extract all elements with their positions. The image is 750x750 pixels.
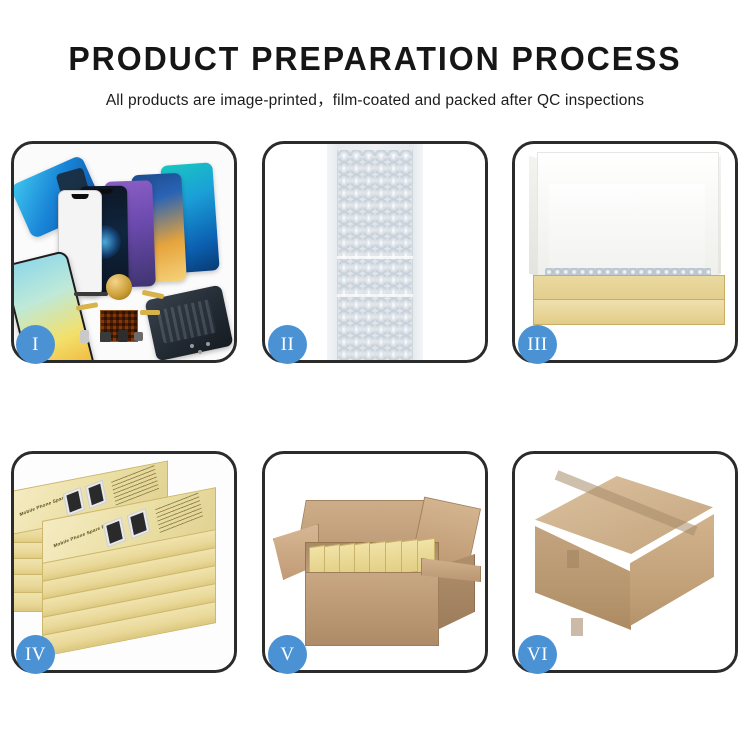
- step-badge-5: V: [268, 635, 307, 674]
- part-screw-a: [190, 344, 194, 348]
- packing-tape-side-lower: [571, 618, 583, 636]
- phone-notch: [72, 194, 89, 199]
- inner-box-4: [354, 542, 370, 576]
- kraft-tray-front: [533, 299, 725, 325]
- part-vibration-motor: [106, 274, 132, 300]
- pouch-seam-upper: [337, 256, 413, 259]
- inner-box-5: [369, 541, 386, 576]
- step-4-image: Mobile Phone Spare Parts Mobile Phone Sp…: [14, 454, 234, 670]
- phone-parts-scene: [14, 144, 234, 360]
- box-screen-image-d: [127, 508, 150, 539]
- part-earpiece-mesh: [74, 292, 108, 296]
- step-badge-6: VI: [518, 635, 557, 674]
- part-button-set: [134, 332, 143, 341]
- part-flex-cable-c: [140, 310, 160, 315]
- foam-insert: [549, 184, 705, 274]
- carton-front-face: [305, 572, 439, 646]
- part-speaker-module: [100, 332, 111, 342]
- step-badge-3: III: [518, 325, 557, 364]
- product-preparation-infographic: PRODUCT PREPARATION PROCESS All products…: [0, 0, 750, 750]
- pouch-seam-lower: [337, 294, 413, 297]
- step-1-image: [14, 144, 234, 360]
- part-camera-module: [118, 330, 128, 342]
- part-sim-tray: [80, 330, 89, 343]
- part-screw-b: [198, 350, 202, 354]
- box-screen-image-b: [85, 480, 107, 510]
- inner-box-6: [385, 540, 402, 575]
- part-screw-c: [206, 342, 210, 346]
- box-screen-image-c: [103, 517, 126, 548]
- step-badge-2: II: [268, 325, 307, 364]
- step-badge-4: IV: [16, 635, 55, 674]
- step-badge-1: I: [16, 325, 55, 364]
- steps-grid: I II: [0, 0, 750, 750]
- box-spec-lines-b: [155, 492, 203, 533]
- inner-box-7: [401, 539, 418, 574]
- packing-tape-side-upper: [567, 550, 579, 568]
- stacked-boxes-scene: Mobile Phone Spare Parts Mobile Phone Sp…: [14, 454, 234, 670]
